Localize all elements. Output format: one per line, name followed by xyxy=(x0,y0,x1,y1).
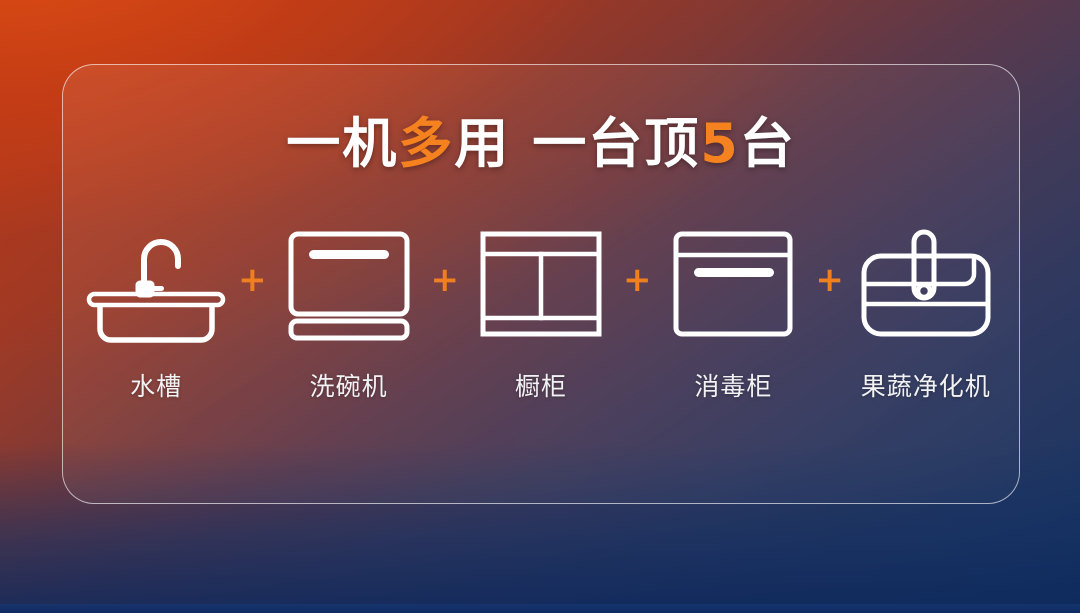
list-item[interactable]: 果蔬净化机 xyxy=(853,225,999,403)
title-part-2: 用 xyxy=(454,112,510,175)
cabinet-icon-box xyxy=(471,225,611,345)
list-item[interactable]: 洗碗机 xyxy=(275,225,421,403)
list-item-label: 洗碗机 xyxy=(310,367,388,403)
list-item-label: 水槽 xyxy=(130,367,182,403)
produce-purifier-icon xyxy=(856,226,996,344)
sterilizer-icon-box xyxy=(663,225,803,345)
sterilizer-icon xyxy=(669,226,797,344)
list-item-label: 消毒柜 xyxy=(694,367,772,403)
background-bottom-edge xyxy=(0,604,1080,613)
title-part-4: 台 xyxy=(740,112,796,175)
list-item-label: 橱柜 xyxy=(515,367,567,403)
sink-icon-box xyxy=(86,225,226,345)
plus-separator: + xyxy=(807,263,853,297)
title-accent-1: 多 xyxy=(398,112,454,175)
feature-card: 一机多用一台顶5台 xyxy=(62,64,1020,504)
plus-separator: + xyxy=(422,263,468,297)
dishwasher-icon xyxy=(283,226,415,344)
feature-list: 水槽 + 洗碗机 + xyxy=(83,225,999,465)
page-title: 一机多用一台顶5台 xyxy=(63,117,1019,171)
purifier-icon-box xyxy=(856,225,996,345)
list-item[interactable]: 橱柜 xyxy=(468,225,614,403)
title-part-1: 一机 xyxy=(286,112,398,175)
dishwasher-icon-box xyxy=(279,225,419,345)
list-item-label: 果蔬净化机 xyxy=(861,367,991,403)
sink-icon xyxy=(86,226,226,344)
promo-banner: 一机多用一台顶5台 xyxy=(0,0,1080,613)
plus-separator: + xyxy=(614,263,660,297)
list-item[interactable]: 消毒柜 xyxy=(660,225,806,403)
title-part-3: 一台顶 xyxy=(532,112,700,175)
cabinet-icon xyxy=(477,226,605,344)
plus-separator: + xyxy=(229,263,275,297)
title-accent-2: 5 xyxy=(700,112,740,175)
list-item[interactable]: 水槽 xyxy=(83,225,229,403)
